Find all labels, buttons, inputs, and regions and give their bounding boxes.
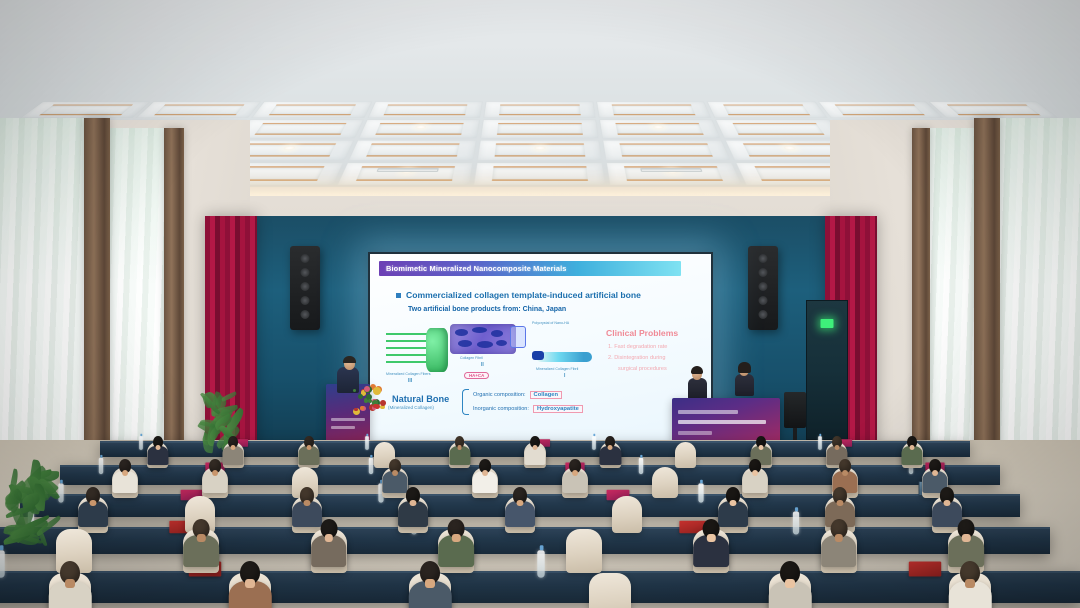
audience-member [447,436,472,465]
composition-key: Inorganic composition: [473,406,529,412]
water-bottle [537,550,545,578]
ceiling-coffer [484,101,597,118]
coffer-inner-panel [40,104,134,115]
coffer-inner-panel [497,122,583,134]
audience-chair [675,442,696,468]
ceiling-coffer [237,119,364,137]
ceiling-coffer [337,162,474,185]
ceiling-coffer [929,101,1060,118]
water-bottle [698,483,703,502]
audience-member-neck [212,470,218,475]
diagram-label-collagen: Collagen Fibril [460,356,483,360]
audience-member-neck [482,470,488,475]
audience-member-neck [572,470,578,475]
audience-member [765,561,815,608]
recessed-downlight [416,125,427,128]
diagram-roman-fibers: III [408,378,412,384]
audience-member [296,436,321,465]
ceiling-coffer [359,119,481,137]
exit-sign-icon [821,319,834,328]
ceiling-coffer [136,101,262,118]
audience-member-neck [516,500,523,506]
floor-monitor-speaker [784,392,806,428]
ceiling-coffer [477,140,602,160]
audience-member [308,519,350,567]
audience-member [200,459,230,493]
ceiling-coffer [348,140,477,160]
audience-chair [652,467,677,498]
brace-icon [462,389,469,415]
composition-value: Hydroxyapatite [533,405,583,413]
flower-petal [373,387,381,395]
ceiling-coffer [368,101,483,118]
audience-member [945,561,995,608]
air-vent [377,168,439,171]
audience-member [45,561,95,608]
panelist-body [688,378,707,400]
recessed-downlight [653,125,664,128]
nano-crystal-dot [532,351,544,360]
diagram-roman-nano: I [564,373,565,379]
panelist-hair [738,362,751,373]
audience-member [560,459,590,493]
coffer-inner-panel [947,104,1041,115]
slide-title-bar: Biomimetic Mineralized Nanocomposite Mat… [379,261,681,276]
coffer-inner-panel [612,104,696,115]
ceiling-coffer [603,140,732,160]
coffer-inner-panel [835,104,925,115]
table-placard [909,562,942,577]
diagram-label-polymer: Polycrystal of Nano-HA [532,321,569,325]
audience-member-neck [730,500,737,506]
audience-member [110,459,140,493]
clinical-problem-item: 2. Disintegration during [608,355,666,361]
audience-member-neck [842,470,848,475]
water-bottle [793,512,799,535]
audience-member-neck [392,470,398,475]
ceiling-coffer [252,101,373,118]
water-bottle [365,437,369,451]
water-bottle [99,458,103,474]
audience-member [145,436,170,465]
composition-key: Organic composition: [473,392,526,398]
audience-member-neck [425,579,435,588]
composition-value: Collagen [530,391,562,399]
audience-chair [566,529,602,573]
audience-member [502,487,537,527]
bullet-square-icon [396,293,401,298]
audience-member [225,561,275,608]
water-bottle [0,550,5,578]
water-bottle [139,437,143,451]
audience-member-neck [943,500,950,506]
water-bottle [592,437,596,451]
coffer-inner-panel [492,166,588,181]
ceiling-coffer [600,119,722,137]
audience-member [180,519,222,567]
line-array-speaker-left [290,246,320,330]
audience-member [690,519,732,567]
audience-member-neck [303,500,310,506]
floral-arrangement [352,382,386,412]
diagram-roman-collagen: II [481,362,484,368]
composition-row-inorganic: Inorganic composition: Hydroxyapatite [473,405,583,413]
water-bottle [369,458,373,474]
presenter-hair [343,356,356,363]
nano-ha-crystal-icon [510,326,526,348]
audience-member [405,561,455,608]
ceiling-coffer [474,162,607,185]
flower-petal [368,399,372,403]
audience-member-neck [785,579,795,588]
audience-member-neck [65,579,75,588]
water-bottle [818,437,822,451]
ceiling-coffer [597,101,712,118]
slide-diagram: Mineralized Collagen Fibers III Collagen… [386,322,616,384]
coffer-inner-panel [255,122,347,134]
projection-screen: Biomimetic Mineralized Nanocomposite Mat… [368,252,713,444]
audience-member [470,459,500,493]
coffer-inner-panel [154,104,244,115]
slide-bullet-text: Commercialized collagen template-induced… [406,290,641,300]
audience-member-neck [245,579,255,588]
coffer-inner-panel [367,143,460,156]
plant-leaf [221,391,238,401]
composition-row-organic: Organic composition: Collagen [473,391,562,399]
flower-petal [354,408,357,411]
audience-member-neck [965,579,975,588]
flower-petal [360,406,364,410]
coffer-inner-panel [724,104,811,115]
flower-petal [358,394,363,399]
coffer-inner-panel [620,143,713,156]
clinical-problem-item: surgical procedures [618,366,667,372]
diagram-label-nano: Mineralized Collagen Fibril [536,367,578,371]
coffer-inner-panel [499,104,581,115]
ceiling-coffer [20,101,151,118]
mineralized-fibril-rod [536,352,592,362]
panelist-hair [691,366,703,374]
audience-member-neck [90,500,97,506]
audience-member-neck [122,470,128,475]
audience-chair [612,496,642,533]
natural-bone-label: Natural Bone [392,394,449,404]
flower-petal [353,389,356,392]
audience-member [76,487,111,527]
audience-member [523,436,548,465]
coffer-inner-panel [269,104,356,115]
slide-subtitle: Two artificial bone products from: China… [408,306,566,313]
presentation-slide: Biomimetic Mineralized Nanocomposite Mat… [370,254,711,442]
audience-member-neck [410,500,417,506]
audience-member [396,487,431,527]
water-bottle [639,458,643,474]
panelist-body [735,374,754,396]
audience-member [818,519,860,567]
diagram-label-fibers: Mineralized Collagen Fibers [386,372,431,376]
ceiling-coffer [708,101,829,118]
coffer-inner-panel [733,122,825,134]
flower-petal [364,386,370,392]
slide-bullet-row: Commercialized collagen template-induced… [396,290,641,300]
clinical-problem-item: 1. Fast degradation rate [608,344,667,350]
air-vent [641,168,703,171]
coffer-inner-panel [384,104,468,115]
ha-ca-pill: HA+CA [464,372,489,379]
audience-member-neck [836,500,843,506]
ceiling-coffer [818,101,944,118]
audience-member-neck [752,470,758,475]
ceiling-coffer [481,119,600,137]
clinical-problems-heading: Clinical Problems [606,328,678,338]
audience-chair [589,573,632,608]
natural-bone-sublabel: (Mineralized Collagen) [388,405,434,410]
emergency-exit-door [806,300,848,440]
flower-petal [380,400,386,406]
audience-member [598,436,623,465]
slide-title: Biomimetic Mineralized Nanocomposite Mat… [386,264,567,273]
line-array-speaker-right [748,246,778,330]
ceiling-coffer [716,119,843,137]
ceiling-coffer [606,162,743,185]
conference-hall-photo: Biomimetic Mineralized Nanocomposite Mat… [0,0,1080,608]
recessed-downlight [535,146,546,150]
audience-member-neck [932,470,938,475]
collagen-fibril-blob [450,324,516,354]
mineralized-fiber-group [386,330,442,370]
